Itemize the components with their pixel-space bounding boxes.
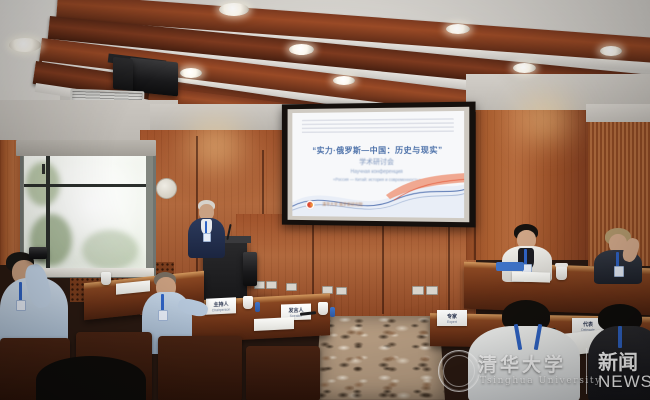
- ceiling-downlight: [289, 44, 314, 55]
- window-mullion-horizontal: [24, 184, 146, 187]
- water-cup: [243, 296, 253, 309]
- name-card-en: Chairperson: [212, 307, 230, 312]
- name-card-cn: 专家: [447, 313, 457, 320]
- document-sheets: [254, 317, 294, 331]
- water-cup: [318, 302, 328, 315]
- window-roller-blind: [16, 140, 156, 156]
- wall-power-outlet: [426, 286, 438, 295]
- water-cup: [101, 272, 111, 285]
- photographer-badge: [16, 300, 26, 311]
- camera-device: [29, 247, 47, 259]
- slide-wave-graphic: [292, 173, 464, 218]
- ceiling-downlight: [9, 38, 41, 52]
- bose-speaker-side: [113, 57, 133, 91]
- attendee-badge: [158, 310, 168, 321]
- chair: [158, 336, 242, 400]
- photographer-lanyard: [19, 282, 22, 302]
- window-foliage: [82, 230, 138, 268]
- document-sheets: [512, 271, 550, 282]
- wall-light-glow: [168, 118, 263, 172]
- wall-power-outlet: [412, 286, 424, 295]
- water-bottle: [255, 302, 260, 312]
- ceiling-downlight: [600, 46, 622, 56]
- name-card: 主持人 Chairperson: [206, 297, 236, 315]
- wall-right-soffit: [586, 104, 650, 122]
- projection-screen-frame: “实力·俄罗斯—中国：历史与现实” 学术研讨会 Научная конферен…: [282, 102, 476, 228]
- person-foreground-seated-bottom-left: [36, 356, 156, 400]
- speaker-badge: [203, 233, 211, 242]
- projection-screen-surface: “实力·俄罗斯—中国：历史与现实” 学术研讨会 Научная конферен…: [292, 111, 464, 218]
- conference-room-photo: “实力·俄罗斯—中国：历史与现实” 学术研讨会 Научная конферен…: [0, 0, 650, 400]
- chair: [246, 346, 320, 400]
- slide-title-cn: “实力·俄罗斯—中国：历史与现实”: [292, 144, 464, 156]
- slide-institution-logo: [306, 200, 315, 209]
- name-card: 专家 Expert: [437, 310, 467, 326]
- wall-power-outlet: [266, 281, 277, 289]
- floor-loudspeaker: [243, 252, 257, 286]
- ceiling-downlight: [219, 3, 249, 16]
- wall-panel-seam: [448, 218, 450, 310]
- slide-header-lines: [302, 119, 453, 134]
- foreground2-lanyard: [618, 326, 622, 348]
- slide-subtitle-cn: 学术研讨会: [292, 157, 464, 167]
- wall-panel-seam: [382, 216, 384, 314]
- wall-light-glow: [500, 96, 590, 142]
- floor-carpet: [315, 316, 445, 400]
- water-bottle: [330, 307, 335, 317]
- person-foreground-dark-shirt: [588, 304, 650, 400]
- foreground-white-shirt-torso: [468, 326, 580, 400]
- water-bottle: [496, 262, 524, 271]
- cup-lid: [555, 263, 568, 267]
- wall-power-outlet: [336, 287, 347, 295]
- slide-footer-cn: 清华大学·俄罗斯研究院: [322, 201, 362, 207]
- wall-decorative-disc: [156, 178, 177, 199]
- ceiling-downlight: [513, 63, 536, 73]
- window-latch: [42, 164, 45, 174]
- watermark-divider: [586, 348, 587, 394]
- person-foreground-white-shirt: [468, 300, 584, 400]
- ceiling-downlight: [446, 24, 470, 34]
- person-panelist-dark-jacket: [594, 228, 644, 280]
- panelist2-badge: [614, 266, 624, 277]
- water-cup: [556, 266, 567, 280]
- name-card-en: Expert: [447, 320, 457, 324]
- foreground3-hair: [36, 356, 146, 400]
- person-speaker-at-podium: [185, 200, 227, 258]
- wall-power-outlet: [286, 283, 297, 291]
- ceiling-downlight: [333, 76, 355, 85]
- ceiling-downlight: [180, 68, 202, 78]
